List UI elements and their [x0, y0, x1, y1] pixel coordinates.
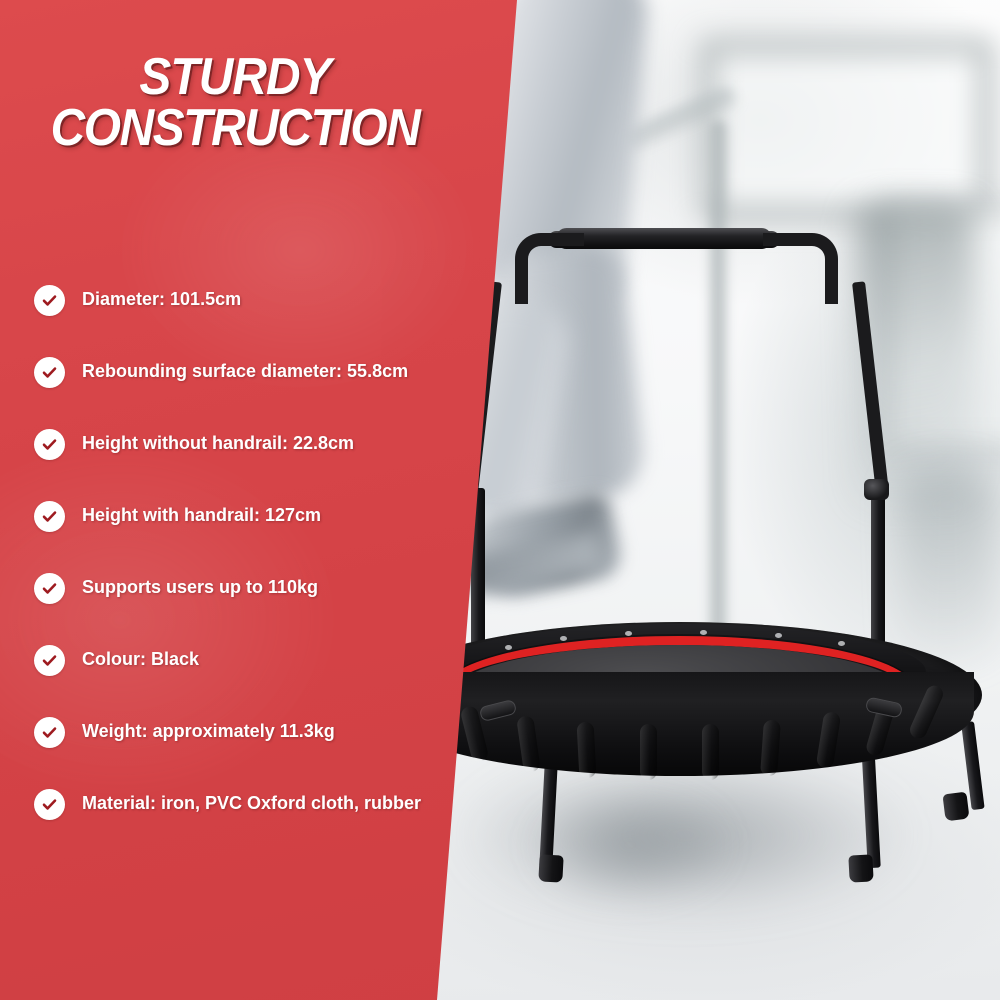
- check-circle-icon: [34, 429, 65, 460]
- mat-rivet: [700, 630, 707, 635]
- title-line-1: STURDY: [19, 52, 451, 103]
- list-item: Weight: approximately 11.3kg: [34, 720, 424, 748]
- handlebar-right-post-lower: [871, 488, 885, 648]
- check-circle-icon: [34, 573, 65, 604]
- check-circle-icon: [34, 645, 65, 676]
- list-item: Height with handrail: 127cm: [34, 504, 424, 532]
- feature-text: Weight: approximately 11.3kg: [82, 720, 335, 743]
- handlebar-right-post-upper: [852, 281, 889, 496]
- feature-text: Rebounding surface diameter: 55.8cm: [82, 360, 408, 383]
- feature-text: Height with handrail: 127cm: [82, 504, 321, 527]
- leg-front-left: [539, 758, 558, 869]
- foam-grip: [556, 228, 772, 249]
- pad-fold: [702, 724, 719, 780]
- feature-list: Diameter: 101.5cm Rebounding surface dia…: [34, 288, 424, 864]
- list-item: Supports users up to 110kg: [34, 576, 424, 604]
- feature-text: Material: iron, PVC Oxford cloth, rubber: [82, 792, 421, 815]
- mat-rivet: [505, 645, 512, 650]
- feature-text: Diameter: 101.5cm: [82, 288, 241, 311]
- check-circle-icon: [34, 357, 65, 388]
- page-title: STURDY CONSTRUCTION: [19, 52, 451, 155]
- leg-front-right: [862, 758, 881, 869]
- adjustment-knob-right: [864, 479, 889, 500]
- rubber-foot-cap: [848, 854, 873, 882]
- list-item: Colour: Black: [34, 648, 424, 676]
- mat-rivet: [775, 633, 782, 638]
- mat-rivet: [560, 636, 567, 641]
- check-circle-icon: [34, 285, 65, 316]
- pad-fold: [577, 722, 597, 779]
- check-circle-icon: [34, 789, 65, 820]
- title-line-2: CONSTRUCTION: [19, 103, 451, 154]
- feature-text: Supports users up to 110kg: [82, 576, 318, 599]
- pad-fold: [640, 724, 657, 780]
- mat-rivet: [625, 631, 632, 636]
- check-circle-icon: [34, 501, 65, 532]
- list-item: Height without handrail: 22.8cm: [34, 432, 424, 460]
- list-item: Rebounding surface diameter: 55.8cm: [34, 360, 424, 388]
- mat-rivet: [838, 641, 845, 646]
- check-circle-icon: [34, 717, 65, 748]
- feature-text: Colour: Black: [82, 648, 199, 671]
- rubber-foot-cap: [942, 792, 969, 822]
- handlebar-corner-right: [763, 233, 838, 304]
- list-item: Material: iron, PVC Oxford cloth, rubber: [34, 792, 424, 820]
- handlebar-corner-left: [515, 233, 584, 304]
- product-feature-image: STURDY CONSTRUCTION Diameter: 101.5cm Re…: [0, 0, 1000, 1000]
- rubber-foot-cap: [538, 854, 563, 882]
- list-item: Diameter: 101.5cm: [34, 288, 424, 316]
- feature-text: Height without handrail: 22.8cm: [82, 432, 354, 455]
